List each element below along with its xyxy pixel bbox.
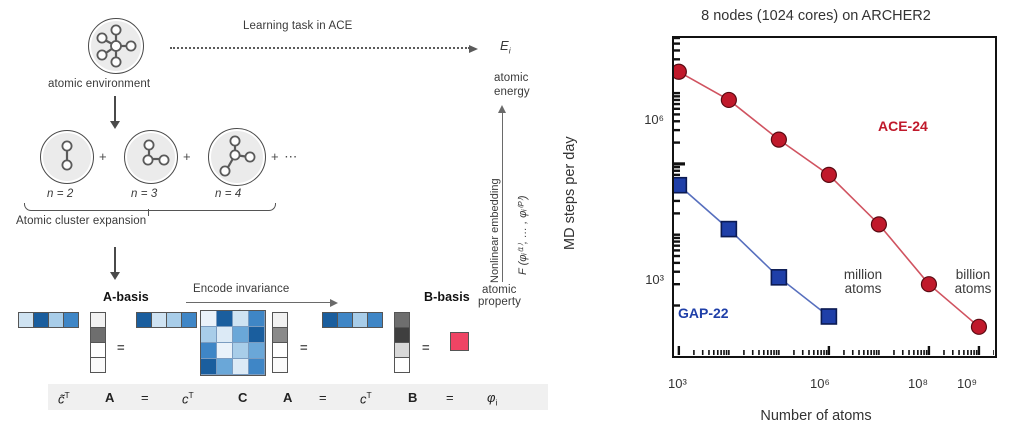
cluster-plus-2: + xyxy=(183,149,191,164)
c-transpose-vector-2 xyxy=(322,312,383,328)
a-basis-vector-2 xyxy=(272,312,288,373)
cluster-plus-1: + xyxy=(99,149,107,164)
annotation-million-atoms: million atoms xyxy=(828,268,898,296)
ytick-label-1e3: 10³ xyxy=(616,272,664,287)
eq-term-5-sym: A xyxy=(283,390,292,405)
arrow-to-basis xyxy=(114,247,116,273)
xtick-label-1e3: 10³ xyxy=(668,376,687,391)
eq-term-9-sym: = xyxy=(446,390,454,405)
a-basis-vector-1 xyxy=(90,312,106,373)
energy-symbol-base: E xyxy=(500,38,509,53)
eq-term-3-sup: T xyxy=(189,390,194,400)
atomic-property-box xyxy=(450,332,469,351)
cluster-brace xyxy=(24,203,276,211)
a-basis-label: A-basis xyxy=(103,290,149,304)
nonlinear-embedding-arrow xyxy=(502,112,503,282)
encode-invariance-label: Encode invariance xyxy=(193,283,289,295)
eq-term-4-sym: C xyxy=(238,390,247,405)
eq-term-5: A xyxy=(283,390,292,405)
xtick-label-1e6: 10⁶ xyxy=(810,376,830,391)
eq-term-7: cT xyxy=(360,390,372,406)
energy-symbol-sub: i xyxy=(509,46,511,56)
cluster-brace-tick xyxy=(148,209,149,216)
eq-term-6: = xyxy=(319,390,327,405)
series-label-ace: ACE-24 xyxy=(878,118,928,134)
atomic-energy-caption-1: atomic xyxy=(494,72,528,84)
eq-term-9: = xyxy=(446,390,454,405)
ctilde-transpose-vector xyxy=(18,312,79,328)
encode-invariance-arrow xyxy=(186,302,331,303)
eq-term-0-sup: T xyxy=(65,390,70,400)
x-axis-title: Number of atoms xyxy=(610,408,1022,424)
eq-term-7-sup: T xyxy=(367,390,372,400)
eq-term-3: cT xyxy=(182,390,194,406)
eq-term-0: c̃T xyxy=(58,390,70,406)
annotation-million-line1: million xyxy=(828,268,898,282)
eq-term-10: φi xyxy=(487,390,497,408)
atomic-environment-label: atomic environment xyxy=(48,78,150,90)
eq-term-6-sym: = xyxy=(319,390,327,405)
atomic-energy-symbol: Ei xyxy=(500,38,511,56)
arrow-to-cluster-expansion xyxy=(114,96,116,122)
eq-term-4: C xyxy=(238,390,247,405)
eq-term-1: A xyxy=(105,390,114,405)
ace-schematic-panel: atomic environment Learning task in ACE … xyxy=(0,0,610,441)
annotation-billion-atoms: billion atoms xyxy=(938,268,1008,296)
cluster-molecule-n2 xyxy=(40,130,94,184)
equation-bar xyxy=(48,384,548,410)
equals-sign-3: = xyxy=(422,340,430,355)
b-basis-vector xyxy=(394,312,410,373)
cluster-molecule-n4 xyxy=(208,128,266,186)
eq-term-10-sub: i xyxy=(495,398,497,408)
eq-term-8: B xyxy=(408,390,417,405)
xtick-label-1e8: 10⁸ xyxy=(908,376,928,391)
cluster-brace-label: Atomic cluster expansion xyxy=(16,215,146,227)
figure-root: atomic environment Learning task in ACE … xyxy=(0,0,1022,441)
chart-title: 8 nodes (1024 cores) on ARCHER2 xyxy=(610,8,1022,24)
learning-task-arrow xyxy=(170,47,470,49)
equals-sign-2: = xyxy=(300,340,308,355)
atomic-property-label-2: property xyxy=(478,296,521,308)
equals-sign-1: = xyxy=(117,340,125,355)
annotation-billion-line2: atoms xyxy=(938,282,1008,296)
performance-chart-panel: 8 nodes (1024 cores) on ARCHER2 10⁶ 10³ … xyxy=(610,0,1022,441)
xtick-label-1e9: 10⁹ xyxy=(957,376,977,391)
cluster-term-n4: n = 4 xyxy=(215,188,241,200)
atomic-environment-molecule xyxy=(88,18,144,74)
c-transpose-vector-1 xyxy=(136,312,197,328)
cluster-term-n3: n = 3 xyxy=(131,188,157,200)
cluster-term-n2: n = 2 xyxy=(47,188,73,200)
annotation-million-line2: atoms xyxy=(828,282,898,296)
c-coupling-matrix xyxy=(200,310,266,376)
eq-term-2: = xyxy=(141,390,149,405)
b-basis-label: B-basis xyxy=(424,290,470,304)
nonlinear-embedding-formula: F (φᵢ⁽¹⁾, … , φᵢ⁽ᴾ⁾) xyxy=(516,195,529,275)
eq-term-8-sym: B xyxy=(408,390,417,405)
eq-term-2-sym: = xyxy=(141,390,149,405)
cluster-molecule-n3 xyxy=(124,130,178,184)
atomic-property-label-1: atomic xyxy=(482,284,516,296)
learning-task-label: Learning task in ACE xyxy=(243,20,352,32)
ytick-label-1e6: 10⁶ xyxy=(616,112,664,127)
atomic-energy-caption-2: energy xyxy=(494,86,530,98)
y-axis-title: MD steps per day xyxy=(562,136,578,250)
annotation-billion-line1: billion xyxy=(938,268,1008,282)
cluster-ellipsis: + ⋯ xyxy=(271,149,298,165)
nonlinear-embedding-label: Nonlinear embedding xyxy=(489,178,501,283)
series-label-gap: GAP-22 xyxy=(678,305,729,321)
eq-term-1-sym: A xyxy=(105,390,114,405)
